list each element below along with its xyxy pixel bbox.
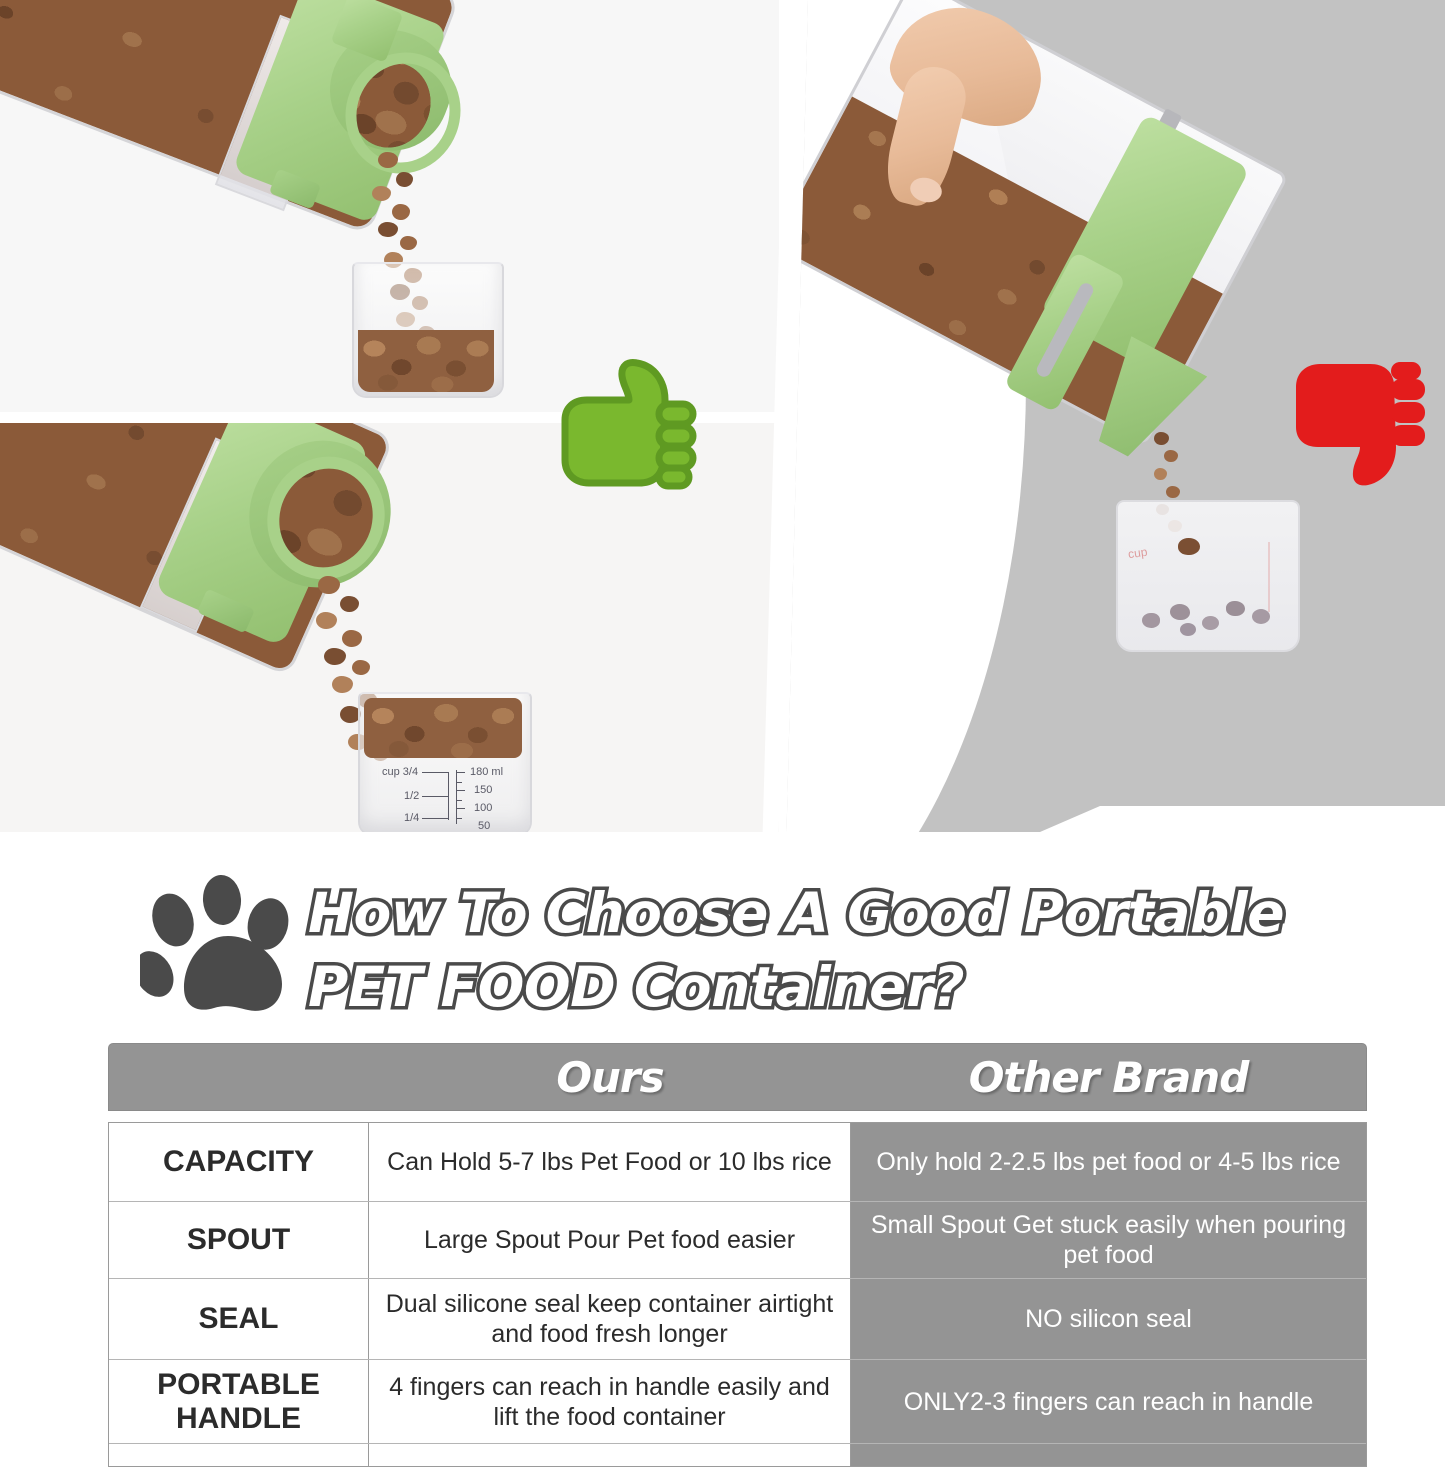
heading-block: How To Choose A Good Portable PET FOOD C… — [0, 852, 1445, 1037]
header-cell-ours: Ours — [369, 1044, 851, 1110]
clear-cup — [352, 262, 504, 398]
table-row: PORTABLE HANDLE 4 fingers can reach in h… — [109, 1360, 1366, 1444]
row-feature-label: CAPACITY — [109, 1123, 369, 1201]
table-body: CAPACITY Can Hold 5-7 lbs Pet Food or 10… — [108, 1122, 1367, 1467]
row-ours-value: 4 fingers can reach in handle easily and… — [369, 1360, 851, 1443]
table-row: SEAL Dual silicone seal keep container a… — [109, 1279, 1366, 1360]
row-feature-label — [109, 1444, 369, 1466]
row-feature-label: SPOUT — [109, 1202, 369, 1278]
row-other-value: NO silicon seal — [851, 1279, 1366, 1359]
scale-label-1-4: 1/4 — [404, 812, 419, 824]
thumbs-up-icon — [549, 356, 699, 490]
scale-label-cup-3-4: cup 3/4 — [382, 766, 418, 778]
row-ours-value — [369, 1444, 851, 1466]
row-other-value: Only hold 2-2.5 lbs pet food or 4-5 lbs … — [851, 1123, 1366, 1201]
table-row: CAPACITY Can Hold 5-7 lbs Pet Food or 10… — [109, 1123, 1366, 1202]
row-ours-value: Can Hold 5-7 lbs Pet Food or 10 lbs rice — [369, 1123, 851, 1201]
row-feature-label: SEAL — [109, 1279, 369, 1359]
frosted-measuring-cup: cup — [1116, 500, 1300, 652]
row-ours-value: Dual silicone seal keep container airtig… — [369, 1279, 851, 1359]
row-other-value: Small Spout Get stuck easily when pourin… — [851, 1202, 1366, 1278]
table-row: SPOUT Large Spout Pour Pet food easier S… — [109, 1202, 1366, 1279]
row-ours-value: Large Spout Pour Pet food easier — [369, 1202, 851, 1278]
table-header-row: Ours Other Brand — [108, 1043, 1367, 1111]
row-other-value: ONLY2-3 fingers can reach in handle — [851, 1360, 1366, 1443]
scale-label-180ml: 180 ml — [470, 766, 503, 778]
header-cell-feature — [109, 1044, 369, 1110]
cup-kibble — [364, 698, 522, 758]
thumbs-down-icon — [1276, 357, 1431, 492]
measuring-cup: cup 3/4 1/2 1/4 180 ml 150 100 50 — [358, 692, 532, 836]
comparison-table: Ours Other Brand CAPACITY Can Hold 5-7 l… — [108, 1043, 1367, 1467]
scale-label-150: 150 — [474, 784, 492, 796]
cup-kibble — [358, 330, 494, 392]
header-body-gap — [108, 1111, 1367, 1122]
scale-label-100: 100 — [474, 802, 492, 814]
row-feature-label: PORTABLE HANDLE — [109, 1360, 369, 1443]
scale-label-1-2: 1/2 — [404, 790, 419, 802]
scale-label-50: 50 — [478, 820, 490, 832]
photo-pouring-into-cup-wide — [0, 0, 779, 414]
page-title: How To Choose A Good Portable PET FOOD C… — [308, 877, 1368, 1024]
photo-collage: cup 3/4 1/2 1/4 180 ml 150 100 50 — [0, 0, 1445, 852]
table-row — [109, 1444, 1366, 1466]
row-other-value — [851, 1444, 1366, 1466]
header-cell-other-brand: Other Brand — [851, 1044, 1366, 1110]
paw-print-icon — [140, 874, 320, 1026]
